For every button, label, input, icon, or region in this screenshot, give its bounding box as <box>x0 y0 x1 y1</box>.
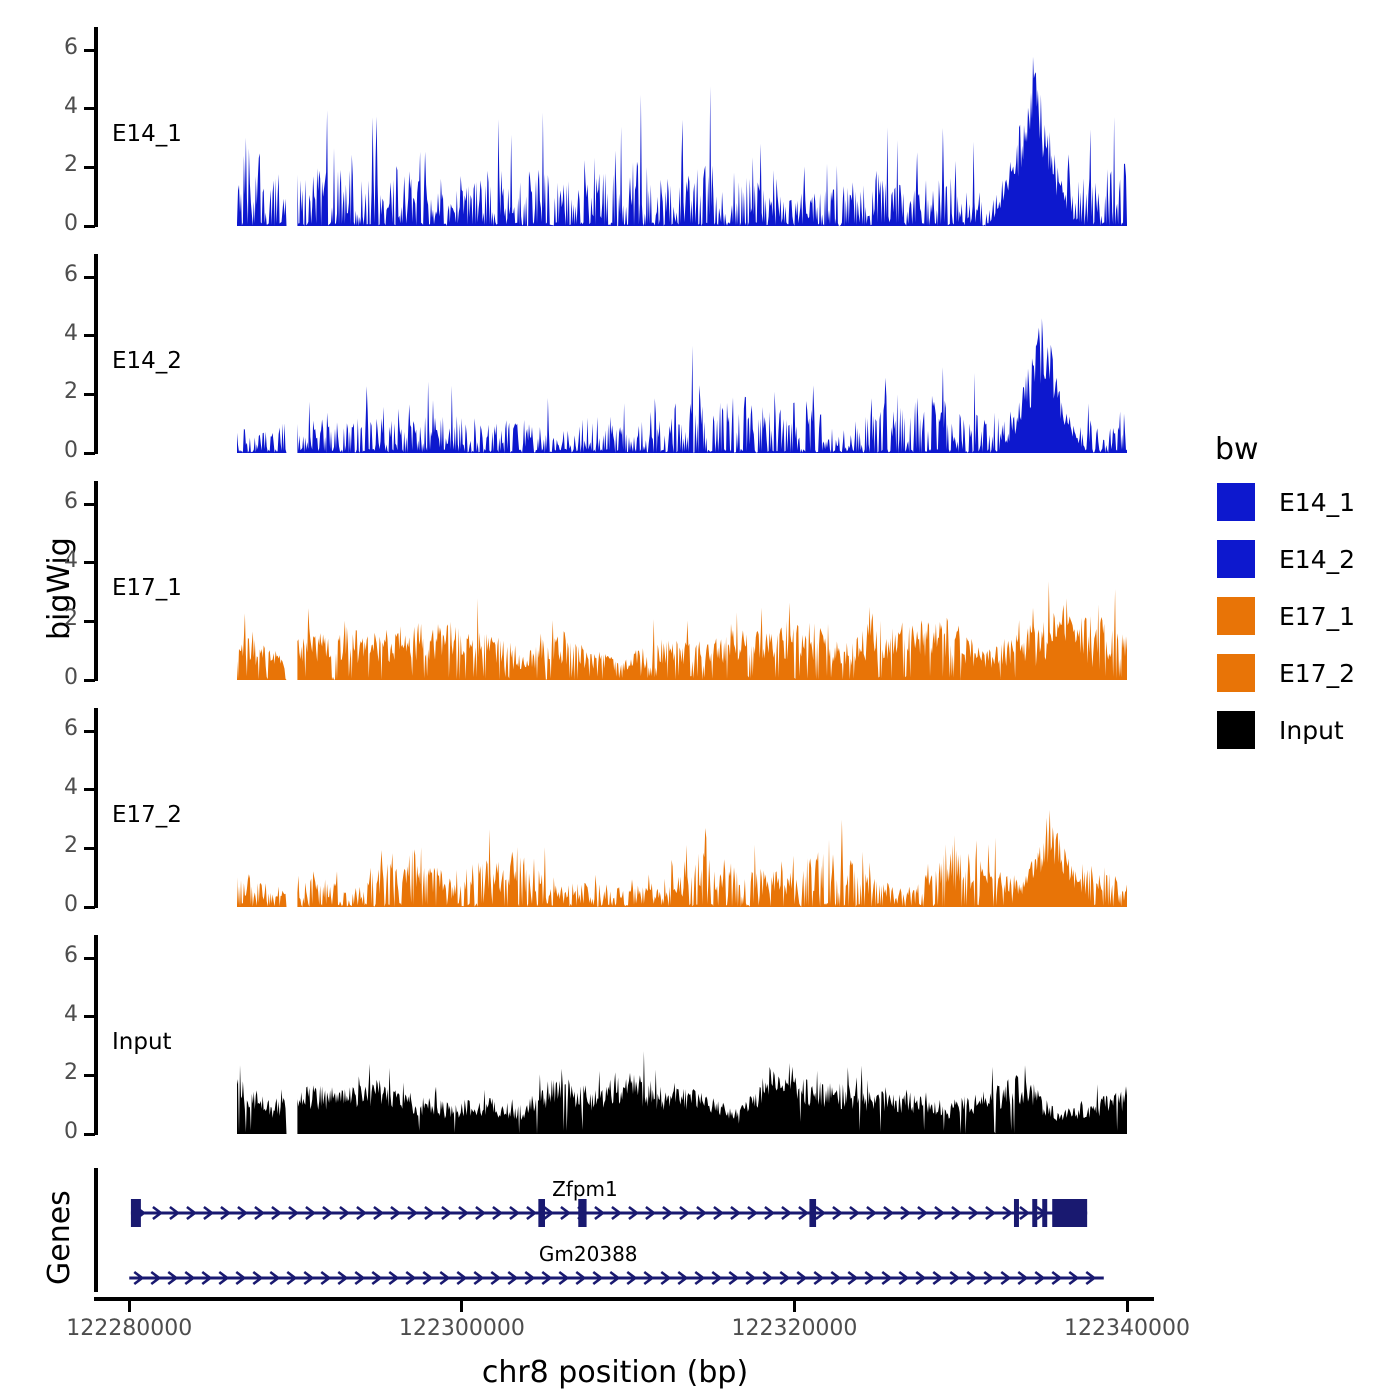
x-tick-label: 122340000 <box>1017 1316 1237 1341</box>
exon-block <box>1032 1199 1037 1227</box>
exon-block <box>578 1199 586 1227</box>
exon-block <box>1042 1199 1047 1227</box>
x-tick-label: 122300000 <box>352 1316 572 1341</box>
x-tick-mark <box>793 1301 796 1312</box>
x-tick-label: 122280000 <box>19 1316 239 1341</box>
gene-models <box>0 0 1400 1400</box>
x-tick-mark <box>460 1301 463 1312</box>
figure-root: bigWig Genes chr8 position (bp) bw E14_1… <box>0 0 1400 1400</box>
x-tick-mark <box>128 1301 131 1312</box>
exon-block <box>809 1199 816 1227</box>
x-tick-label: 122320000 <box>684 1316 904 1341</box>
exon-block <box>131 1199 141 1227</box>
gene-gm20388[interactable] <box>129 1272 1104 1284</box>
exon-block <box>1014 1199 1019 1227</box>
gene-zfpm1[interactable] <box>131 1199 1087 1227</box>
x-tick-mark <box>1126 1301 1129 1312</box>
exon-block <box>1052 1199 1087 1227</box>
x-axis-line <box>94 1297 1154 1301</box>
exon-block <box>538 1199 545 1227</box>
